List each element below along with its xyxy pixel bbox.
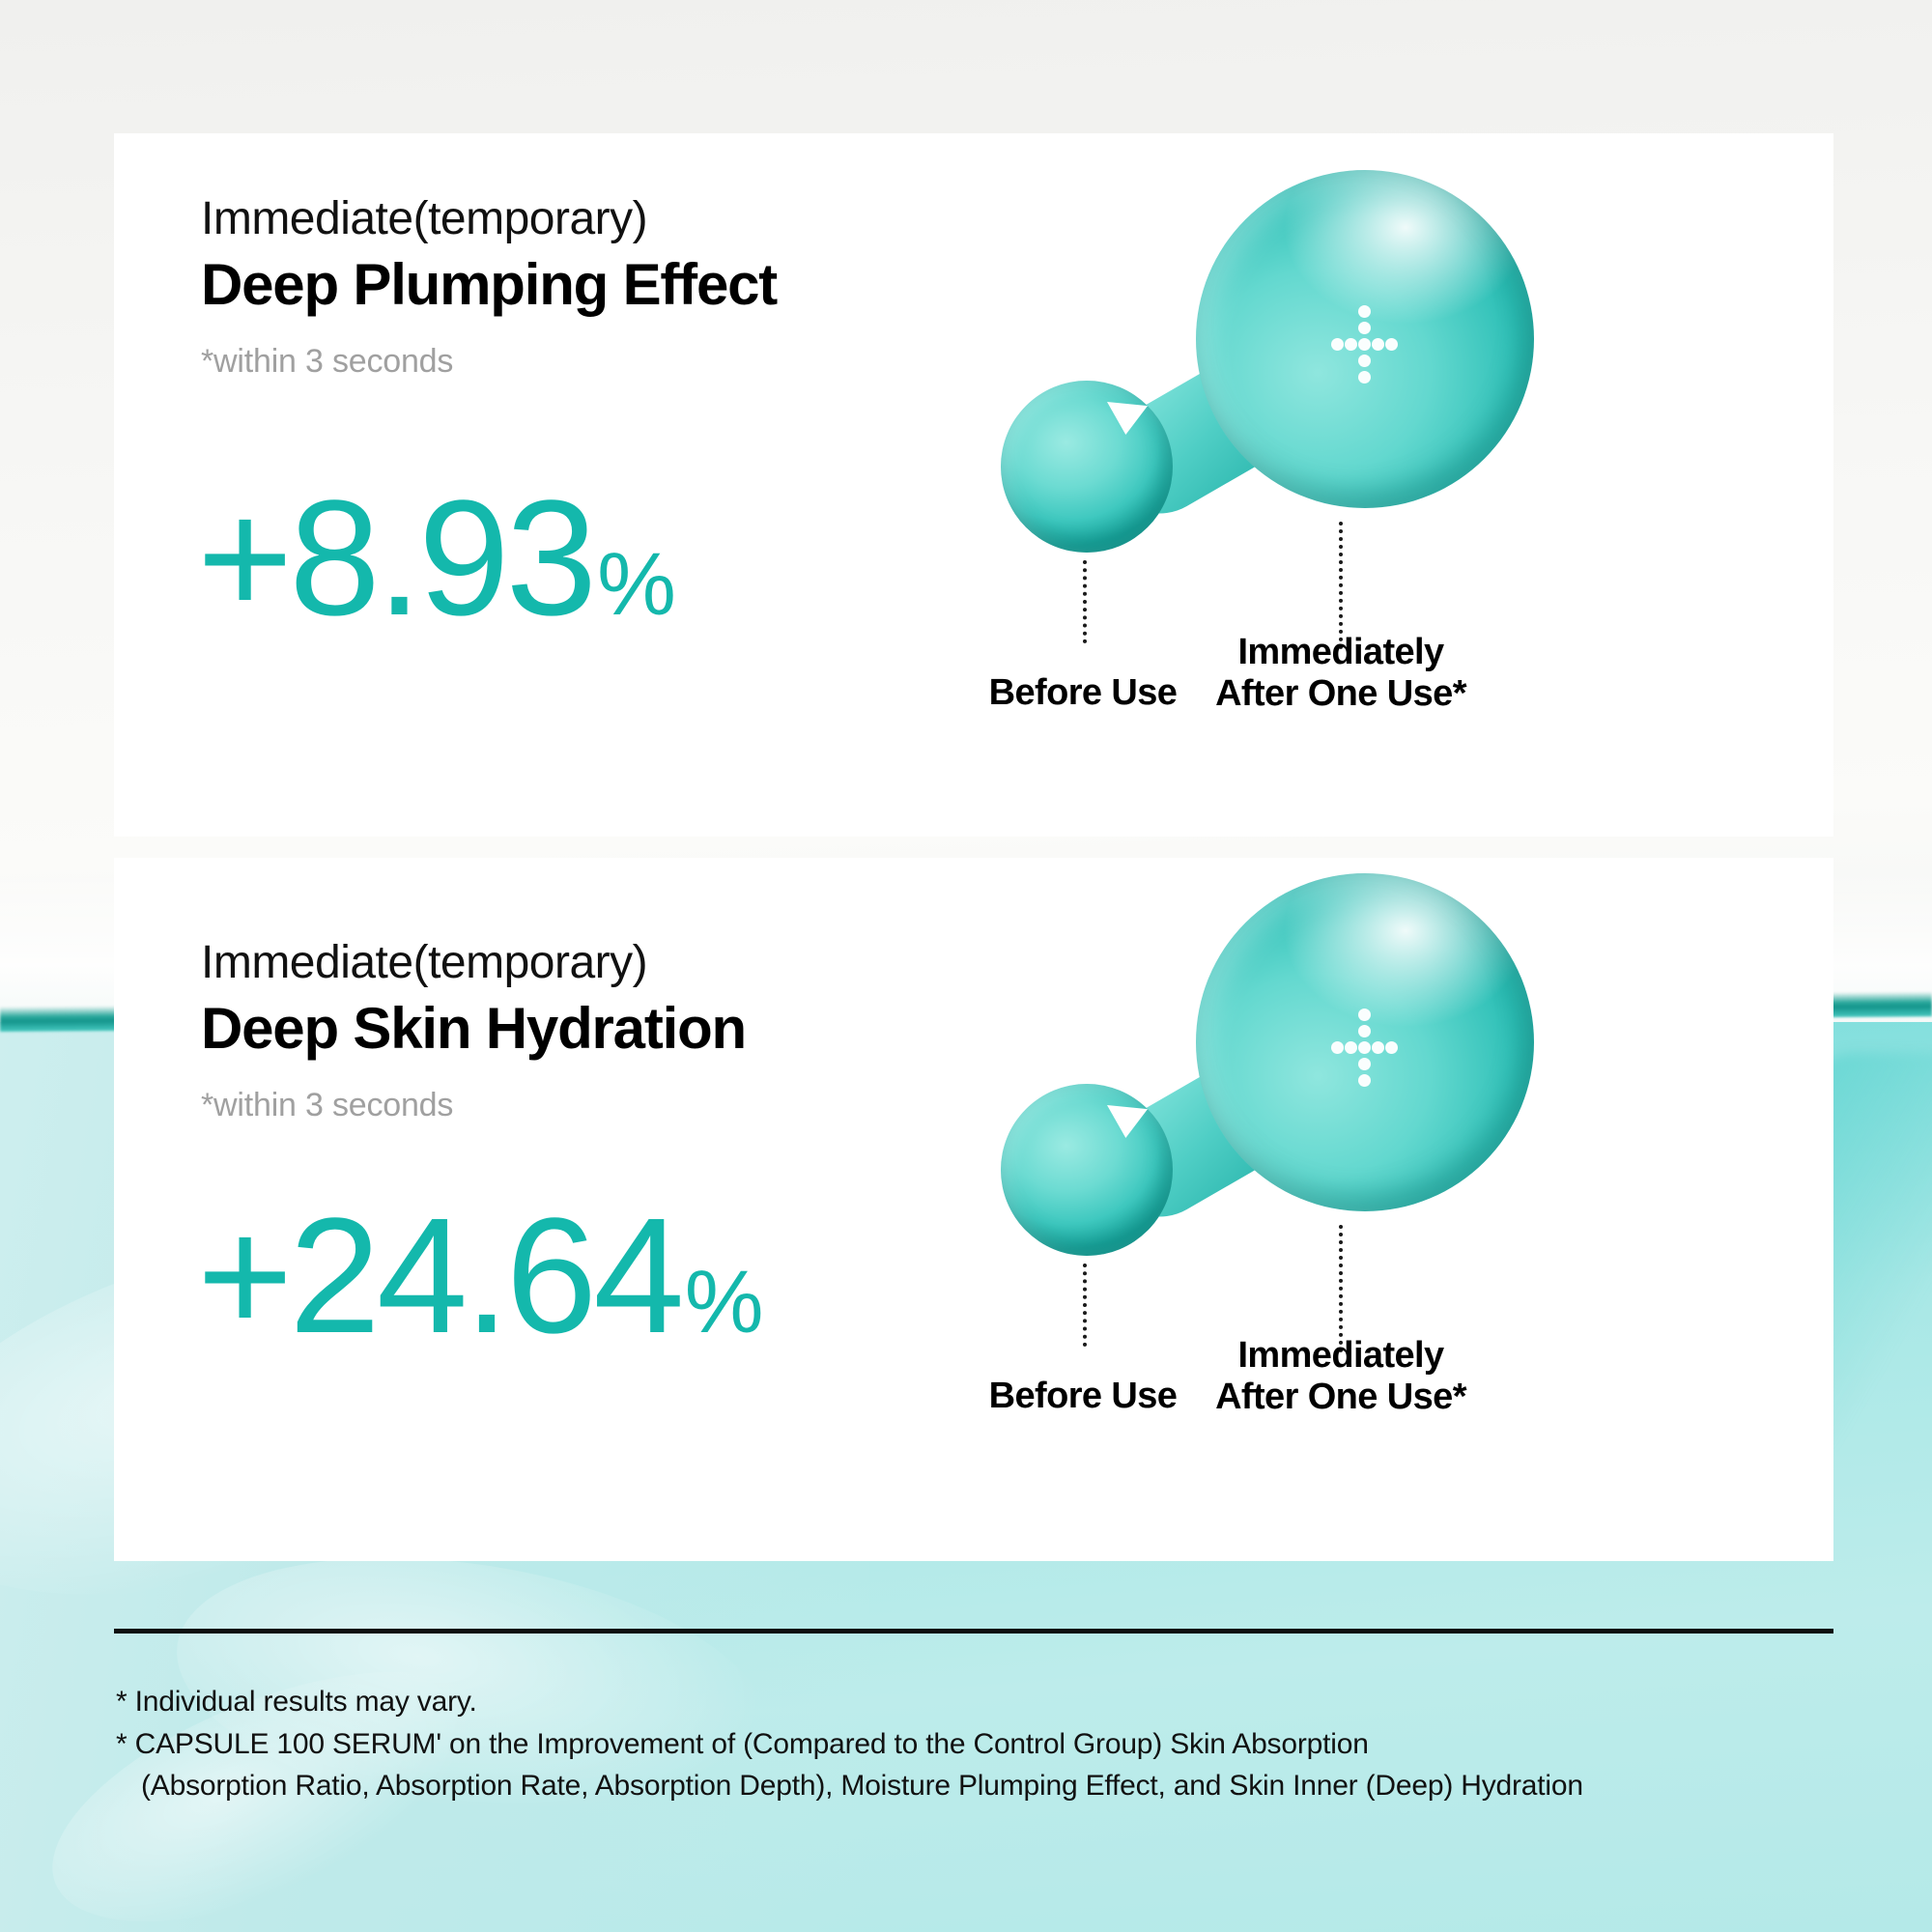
card-2-eyebrow: Immediate(temporary) bbox=[201, 937, 746, 989]
dotted-plus-icon bbox=[1331, 305, 1399, 373]
droplet-large bbox=[1196, 170, 1534, 508]
footnotes-block: * Individual results may vary. * CAPSULE… bbox=[116, 1681, 1845, 1807]
card-2-stat-unit: % bbox=[685, 1258, 762, 1347]
card-1-droplet-graphic: Before Use Immediately After One Use* bbox=[877, 143, 1795, 684]
dotted-plus-icon bbox=[1331, 1009, 1399, 1076]
label-after-line1: Immediately bbox=[1237, 1335, 1443, 1376]
card-2-heading-block: Immediate(temporary) Deep Skin Hydration… bbox=[201, 937, 746, 1125]
card-1-stat-unit: % bbox=[597, 540, 674, 629]
label-after-line2: After One Use* bbox=[1215, 673, 1466, 714]
label-after-one-use: Immediately After One Use* bbox=[1196, 1335, 1486, 1419]
card-1-eyebrow: Immediate(temporary) bbox=[201, 193, 777, 245]
card-1-stat-value: +8.93 bbox=[197, 476, 593, 640]
label-before-use: Before Use bbox=[943, 1376, 1223, 1417]
benefit-card-hydration: Immediate(temporary) Deep Skin Hydration… bbox=[114, 858, 1833, 1561]
card-1-heading-block: Immediate(temporary) Deep Plumping Effec… bbox=[201, 193, 777, 382]
card-2-stat-value: +24.64 bbox=[197, 1194, 681, 1358]
leader-line-before bbox=[1083, 1264, 1087, 1347]
card-1-stat: +8.93 % bbox=[197, 476, 674, 640]
leader-line-after bbox=[1339, 522, 1343, 649]
droplet-large bbox=[1196, 873, 1534, 1211]
card-2-droplet-graphic: Before Use Immediately After One Use* bbox=[877, 846, 1795, 1387]
label-after-line1: Immediately bbox=[1237, 632, 1443, 672]
label-before-use: Before Use bbox=[943, 672, 1223, 714]
label-after-line2: After One Use* bbox=[1215, 1377, 1466, 1417]
benefit-card-plumping: Immediate(temporary) Deep Plumping Effec… bbox=[114, 133, 1833, 837]
card-2-stat: +24.64 % bbox=[197, 1194, 762, 1358]
leader-line-before bbox=[1083, 560, 1087, 643]
leader-line-after bbox=[1339, 1225, 1343, 1352]
label-after-one-use: Immediately After One Use* bbox=[1196, 632, 1486, 716]
card-2-subnote: *within 3 seconds bbox=[201, 1086, 746, 1125]
footnote-line-1: * Individual results may vary. bbox=[116, 1681, 1845, 1723]
infographic-root: Immediate(temporary) Deep Plumping Effec… bbox=[0, 0, 1932, 1932]
footnote-line-3: (Absorption Ratio, Absorption Rate, Abso… bbox=[116, 1765, 1845, 1807]
footnote-line-2: * CAPSULE 100 SERUM' on the Improvement … bbox=[116, 1723, 1845, 1766]
card-1-subnote: *within 3 seconds bbox=[201, 342, 777, 382]
card-1-headline: Deep Plumping Effect bbox=[201, 253, 777, 317]
card-2-headline: Deep Skin Hydration bbox=[201, 997, 746, 1061]
footer-divider-rule bbox=[114, 1629, 1833, 1634]
